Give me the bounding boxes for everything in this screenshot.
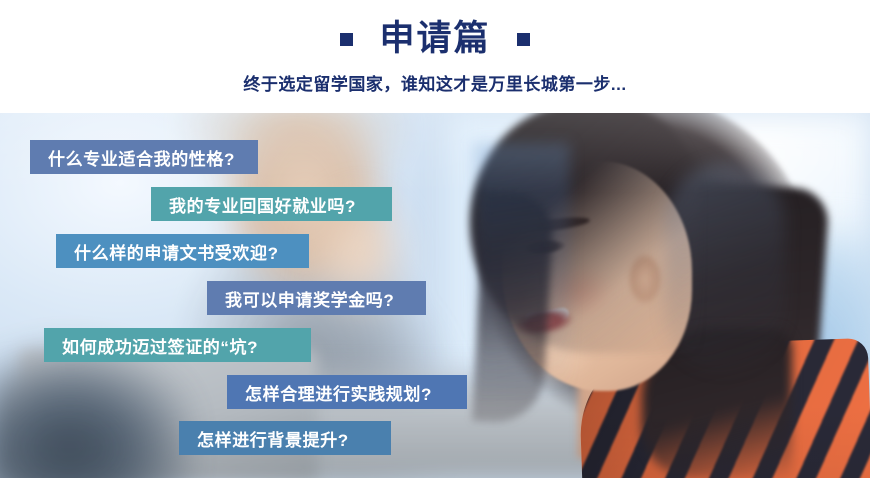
question-bubble-label: 我的专业回国好就业吗? — [169, 192, 356, 217]
footer-strip — [0, 478, 870, 492]
question-bubble-label: 我可以申请奖学金吗? — [225, 286, 394, 311]
question-bubble[interactable]: 什么样的申请文书受欢迎? — [56, 234, 309, 268]
square-bullet-left-icon — [340, 33, 353, 46]
hero-photo: 什么专业适合我的性格?我的专业回国好就业吗?什么样的申请文书受欢迎?我可以申请奖… — [0, 113, 870, 478]
question-bubble-label: 什么专业适合我的性格? — [48, 145, 235, 170]
question-bubble[interactable]: 如何成功迈过签证的“坑? — [44, 328, 311, 362]
page-subtitle: 终于选定留学国家，谁知这才是万里长城第一步... — [0, 70, 870, 95]
page-title: 申请篇 — [379, 18, 490, 60]
student-subject — [430, 113, 870, 478]
question-bubble-label: 什么样的申请文书受欢迎? — [74, 239, 279, 264]
question-bubble-label: 怎样进行背景提升? — [197, 426, 349, 451]
question-bubble[interactable]: 怎样进行背景提升? — [179, 421, 391, 455]
question-bubble-label: 如何成功迈过签证的“坑? — [62, 333, 258, 358]
question-bubble[interactable]: 什么专业适合我的性格? — [30, 140, 258, 174]
question-bubble[interactable]: 我的专业回国好就业吗? — [151, 187, 392, 221]
question-bubble[interactable]: 我可以申请奖学金吗? — [207, 281, 426, 315]
title-row: 申请篇 — [0, 18, 870, 60]
subject-hair-blue-highlight — [474, 143, 570, 393]
square-bullet-right-icon — [517, 33, 530, 46]
question-bubble-label: 怎样合理进行实践规划? — [245, 380, 432, 405]
question-bubble[interactable]: 怎样合理进行实践规划? — [227, 375, 467, 409]
banner-header: 申请篇 终于选定留学国家，谁知这才是万里长城第一步... — [0, 0, 870, 113]
promo-banner: 申请篇 终于选定留学国家，谁知这才是万里长城第一步... — [0, 0, 870, 492]
subject-hair-sheen — [665, 163, 785, 373]
